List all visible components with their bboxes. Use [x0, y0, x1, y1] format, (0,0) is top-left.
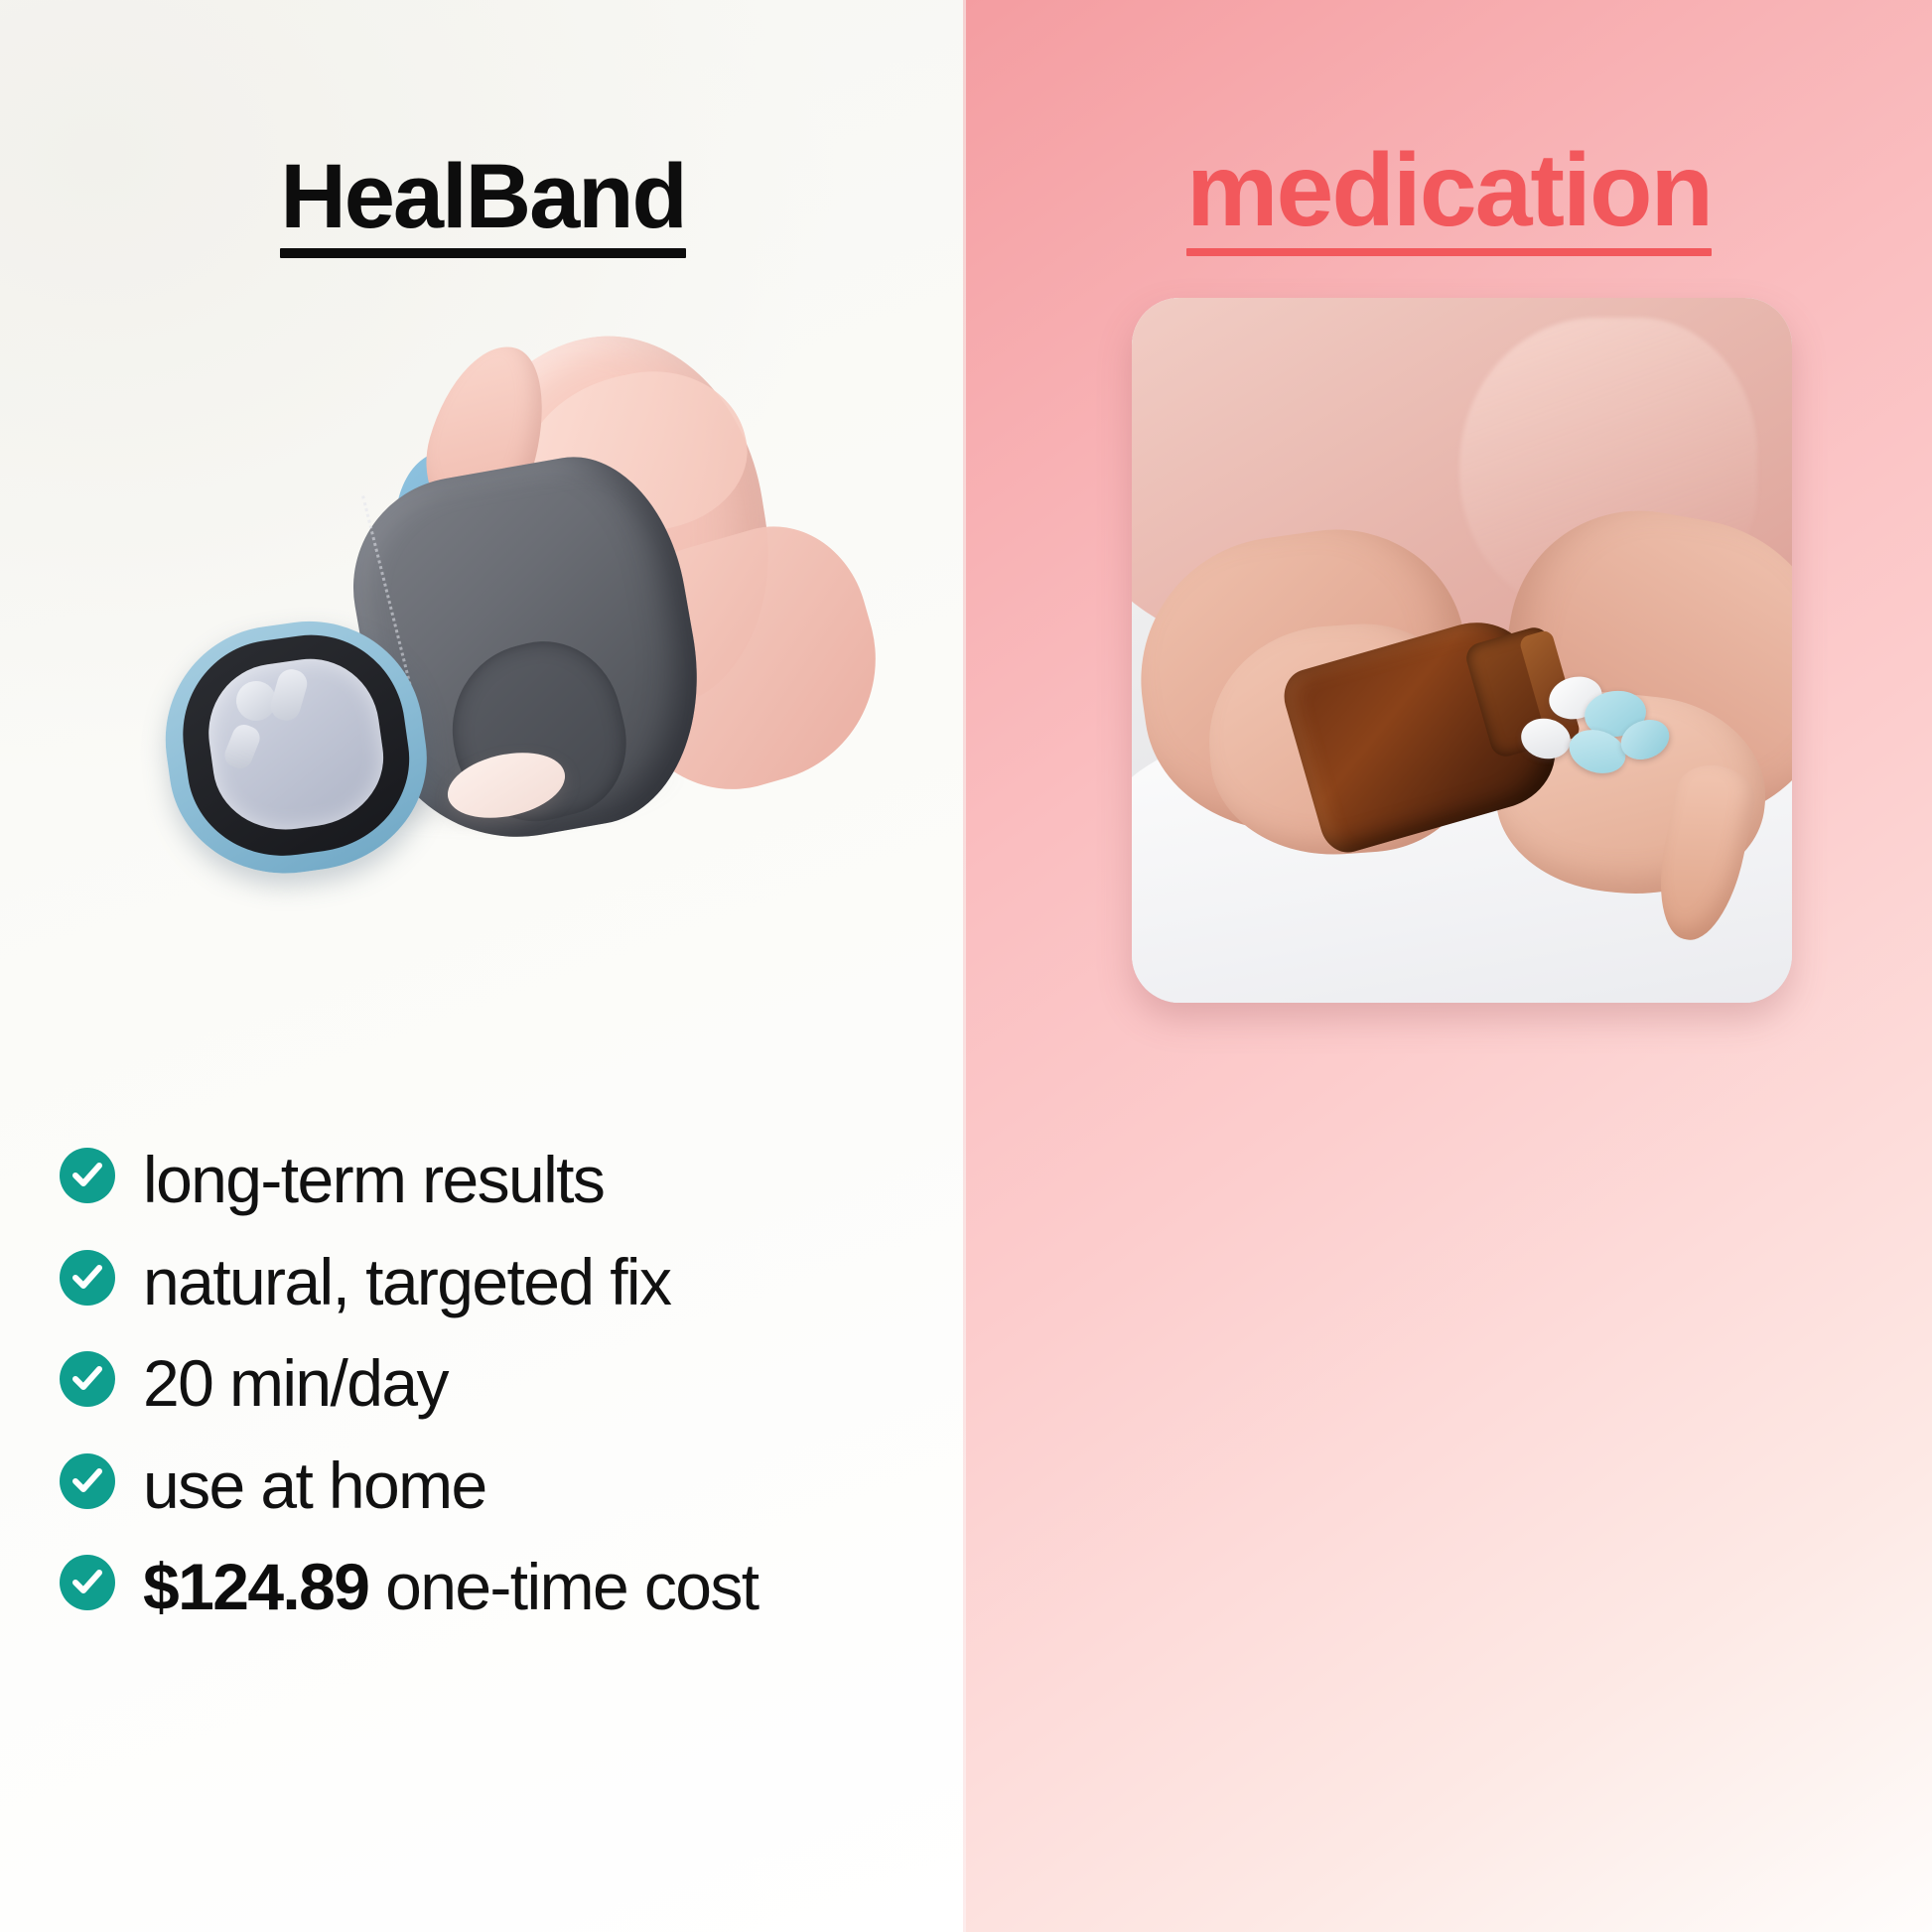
check-circle-icon — [60, 1250, 115, 1306]
list-item-price: $124.89 one-time cost — [60, 1549, 933, 1625]
price-value: $124.89 — [143, 1550, 368, 1623]
healband-title: HealBand — [280, 151, 685, 258]
price-suffix: one-time cost — [368, 1550, 758, 1623]
list-item-label: natural, targeted fix — [143, 1244, 670, 1320]
healband-benefit-list: long-term results natural, targeted fix … — [60, 1142, 933, 1625]
price-line: $124.89 one-time cost — [143, 1549, 758, 1625]
list-item: 20 min/day — [60, 1345, 933, 1422]
check-circle-icon — [60, 1555, 115, 1610]
list-item: use at home — [60, 1448, 933, 1524]
check-circle-icon — [60, 1351, 115, 1407]
list-item: long-term results — [60, 1142, 933, 1218]
pill-bottle-photo — [1132, 298, 1792, 1003]
panel-healband: HealBand long-term re — [0, 0, 966, 1932]
list-item-label: use at home — [143, 1448, 486, 1524]
medication-title: medication — [1186, 139, 1712, 256]
medication-title-wrap: medication — [966, 139, 1932, 256]
list-item: natural, targeted fix — [60, 1244, 933, 1320]
comparison-infographic: HealBand long-term re — [0, 0, 1932, 1932]
panel-medication: medication short-term relief — [966, 0, 1932, 1932]
wrist-brace-photo — [149, 328, 824, 894]
check-circle-icon — [60, 1453, 115, 1509]
list-item-label: 20 min/day — [143, 1345, 448, 1422]
list-item-label: long-term results — [143, 1142, 604, 1218]
check-circle-icon — [60, 1148, 115, 1203]
healband-title-wrap: HealBand — [0, 151, 966, 258]
